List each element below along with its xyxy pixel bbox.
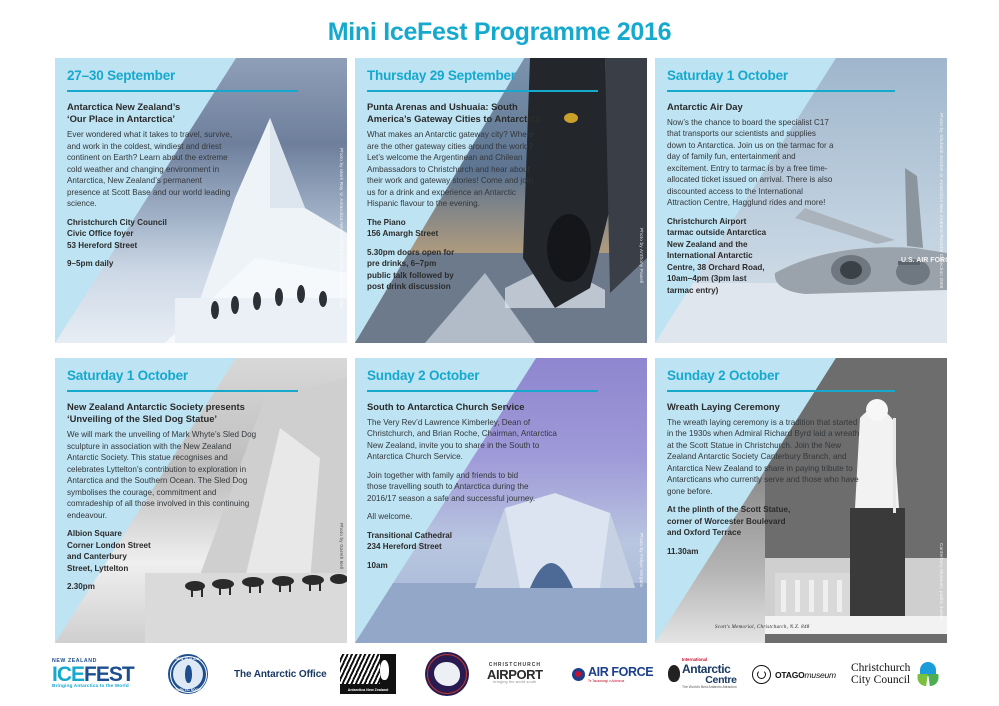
event-headline-line1: Antarctica New Zealand’s (67, 101, 180, 112)
programme-card-grid: Photo by Mark Ray © Antarctica New Zeala… (55, 58, 947, 643)
event-headline: South to Antarctica Church Service (367, 401, 572, 413)
logo-christchurch-city-council[interactable]: Christchurch City Council (851, 648, 941, 700)
penguin-icon (668, 665, 680, 682)
event-card-2[interactable]: Photo by Anthony Powell Thursday 29 Sept… (355, 58, 647, 343)
event-date: Sunday 2 October (667, 368, 867, 383)
event-card-6-content: Sunday 2 October Wreath Laying Ceremony … (667, 368, 867, 557)
event-card-2-content: Thursday 29 September Punta Arenas and U… (367, 68, 572, 293)
event-headline: Wreath Laying Ceremony (667, 401, 867, 413)
event-headline-line2: ‘Unveiling of the Sled Dog Statue’ (67, 413, 217, 424)
photo-credit: Photo by Shulamit Gordon © Antarctica Ne… (939, 113, 944, 289)
event-description-2: Join together with family and friends to… (367, 470, 537, 504)
event-headline-line2: ‘Our Place in Antarctica’ (67, 113, 175, 124)
air-force-text: AIR FORCE (588, 665, 653, 679)
sponsor-logo-bar: NEW ZEALAND ICEFEST Bringing Antarctica … (0, 648, 999, 706)
logo-nz-icefest[interactable]: NEW ZEALAND ICEFEST Bringing Antarctica … (52, 648, 134, 700)
logo-international-antarctic-centre[interactable]: International Antarctic Centre The World… (668, 648, 737, 700)
icefest-ice-text: ICE (52, 663, 84, 686)
otago-light-text: museum (805, 670, 836, 680)
icefest-fest-text: FEST (84, 663, 134, 686)
photo-credit: Photo by Anthony Powell (639, 228, 644, 283)
photo-credit: Canterbury Museum, public domain (939, 543, 944, 622)
logo-christchurch-airport[interactable]: CHRISTCHURCH AIRPORT bringing the world … (487, 648, 543, 700)
event-headline: Antarctica New Zealand’s ‘Our Place in A… (67, 101, 272, 126)
event-venue: Christchurch Airport tarmac outside Anta… (667, 216, 775, 296)
photo-credit: Photo by Felipe Vergara (639, 533, 644, 587)
event-headline: Antarctic Air Day (667, 101, 867, 113)
divider-rule (667, 90, 895, 92)
event-description-3: All welcome. (367, 511, 567, 522)
event-time: 11.30am (667, 546, 867, 557)
logo-otago-museum[interactable]: OTAGOmuseum (752, 648, 836, 700)
event-description: Ever wondered what it takes to travel, s… (67, 129, 237, 209)
event-card-3[interactable]: U.S. AIR FORCE Photo by Shulamit Gordon … (655, 58, 947, 343)
event-date: Saturday 1 October (67, 368, 272, 383)
divider-rule (367, 390, 598, 392)
divider-rule (67, 90, 298, 92)
event-description: The Very Rev’d Lawrence Kimberley, Dean … (367, 417, 563, 463)
page-title: Mini IceFest Programme 2016 (0, 18, 999, 47)
seal-bottom-text: ANTARCTIC SOCIETY (168, 654, 208, 694)
antarctic-office-text: The Antarctic Office (234, 669, 327, 680)
logo-air-force[interactable]: AIR FORCE Te Tauaarangi o Aotearoa (572, 648, 653, 700)
poster-page: Mini IceFest Programme 2016 (0, 0, 999, 706)
event-headline-line1: Wreath Laying Ceremony (667, 401, 780, 412)
event-headline-line1: Antarctic Air Day (667, 101, 743, 112)
usap-seal-icon (425, 652, 469, 696)
event-headline: Punta Arenas and Ushuaia: South America’… (367, 101, 572, 126)
event-description: Now’s the chance to board the specialist… (667, 117, 837, 209)
icefest-tagline: Bringing Antarctica to the World (52, 685, 134, 690)
event-time: 9–5pm daily (67, 258, 272, 269)
event-venue: Albion Square Corner London Street and C… (67, 528, 217, 574)
ccc-line2: City Council (851, 674, 910, 686)
event-card-6[interactable]: Scott's Memorial, Christchurch, N.Z. 848… (655, 358, 947, 643)
logo-antarctic-office[interactable]: The Antarctic Office (234, 648, 327, 700)
logo-usap[interactable] (425, 648, 469, 700)
divider-rule (367, 90, 598, 92)
event-headline-line1: New Zealand Antarctic Society presents (67, 401, 245, 412)
divider-rule (67, 390, 298, 392)
event-headline-line1: Punta Arenas and Ushuaia: South (367, 101, 518, 112)
event-card-1-content: 27–30 September Antarctica New Zealand’s… (67, 68, 272, 270)
event-date: Sunday 2 October (367, 368, 572, 383)
otago-bold-text: OTAGO (775, 670, 805, 680)
logo-nz-antarctic-society[interactable]: NEW ZEALAND ANTARCTIC SOCIETY (168, 648, 208, 700)
event-card-1[interactable]: Photo by Mark Ray © Antarctica New Zeala… (55, 58, 347, 343)
event-venue: At the plinth of the Scott Statue, corne… (667, 504, 847, 538)
event-headline-line1: South to Antarctica Church Service (367, 401, 525, 412)
event-card-4-content: Saturday 1 October New Zealand Antarctic… (67, 368, 272, 593)
divider-rule (667, 390, 895, 392)
event-headline: New Zealand Antarctic Society presents ‘… (67, 401, 272, 426)
koru-spiral-icon (752, 665, 771, 684)
event-time: 2.30pm (67, 581, 272, 592)
event-date: 27–30 September (67, 68, 272, 83)
event-date: Saturday 1 October (667, 68, 867, 83)
event-date: Thursday 29 September (367, 68, 572, 83)
event-card-5[interactable]: Photo by Felipe Vergara Sunday 2 October… (355, 358, 647, 643)
photo-credit: Photo by Gareth Bell (339, 523, 344, 569)
event-card-3-content: Saturday 1 October Antarctic Air Day Now… (667, 68, 867, 303)
event-time: 5.30pm doors open for pre drinks, 6–7pm … (367, 247, 462, 293)
logo-antarctica-new-zealand[interactable]: Antarctica New Zealand (340, 648, 396, 700)
event-description: The wreath laying ceremony is a traditio… (667, 417, 863, 497)
event-headline-line2: America’s Gateway Cities to Antarctica (367, 113, 540, 124)
kiwi-roundel-icon (572, 668, 585, 681)
event-card-5-content: Sunday 2 October South to Antarctica Chu… (367, 368, 572, 571)
event-card-4[interactable]: Photo by Gareth Bell Saturday 1 October … (55, 358, 347, 643)
ccc-emblem-icon (915, 662, 941, 686)
ccc-line1: Christchurch (851, 662, 910, 674)
antarctic-society-seal-icon: NEW ZEALAND ANTARCTIC SOCIETY (168, 654, 208, 694)
event-description: What makes an Antarctic gateway city? Wh… (367, 129, 537, 209)
antarctica-nz-mark-icon: Antarctica New Zealand (340, 654, 396, 694)
event-time: 10am (367, 560, 572, 571)
event-venue: Transitional Cathedral 234 Hereford Stre… (367, 530, 517, 553)
airport-tagline: bringing the world south (487, 681, 543, 685)
event-venue: Christchurch City Council Civic Office f… (67, 217, 217, 251)
event-description: We will mark the unveiling of Mark Whyte… (67, 429, 263, 521)
photo-credit: Photo by Mark Ray © Antarctica New Zeala… (339, 148, 344, 307)
iac-tagline: The World’s Best Antarctic Attraction (682, 686, 737, 690)
archive-photo-caption: Scott's Memorial, Christchurch, N.Z. 848 (715, 625, 810, 630)
air-force-subtext: Te Tauaarangi o Aotearoa (588, 679, 653, 683)
event-venue: The Piano 156 Amargh Street (367, 217, 517, 240)
antarctica-nz-text: Antarctica New Zealand (340, 688, 396, 694)
